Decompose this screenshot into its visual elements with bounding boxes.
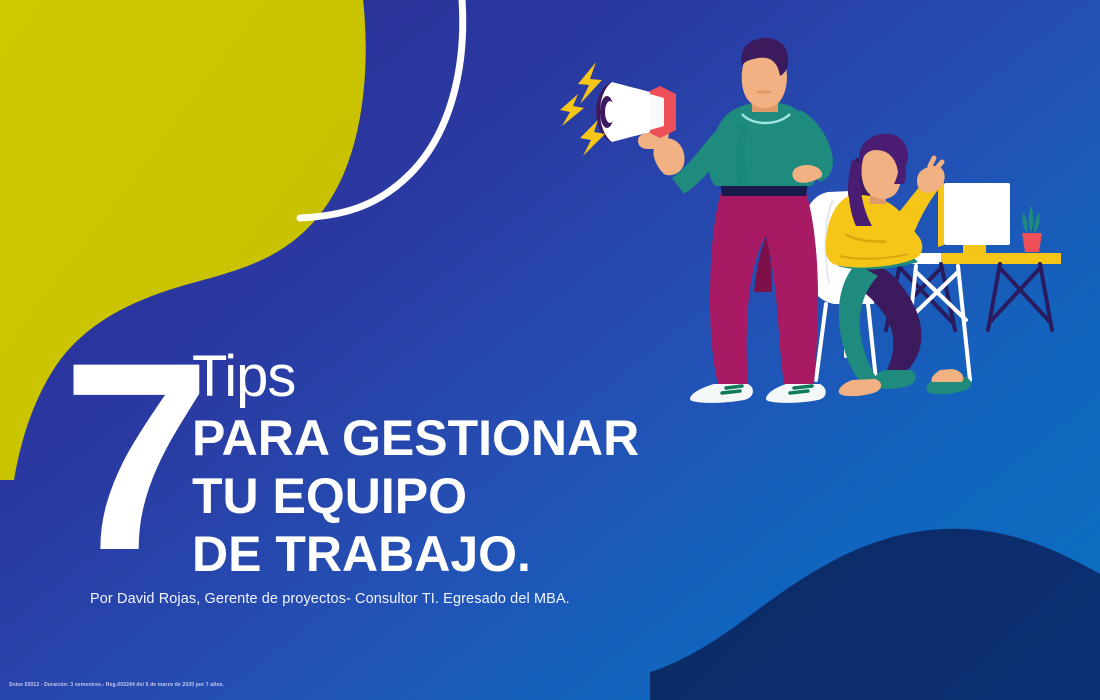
headline-line-1: PARA GESTIONAR: [192, 413, 639, 463]
headline-number: 7: [62, 322, 201, 590]
headline-line-3: DE TRABAJO.: [192, 529, 531, 579]
author-byline: Por David Rojas, Gerente de proyectos- C…: [90, 591, 570, 607]
headline-kicker: Tips: [192, 348, 295, 406]
potted-plant-icon: [1022, 205, 1042, 252]
poster-canvas: 7 Tips PARA GESTIONAR TU EQUIPO DE TRABA…: [0, 0, 1100, 700]
man-shoes: [690, 384, 826, 403]
headline-line-2: TU EQUIPO: [192, 471, 467, 521]
legal-footnote: Snies 53012 - Duración: 3 semestres.- Re…: [9, 682, 224, 688]
megaphone-icon: [596, 82, 676, 142]
monitor-icon: [938, 183, 1010, 258]
headline-block: 7 Tips PARA GESTIONAR TU EQUIPO DE TRABA…: [0, 340, 700, 620]
seated-woman-figure: [826, 134, 972, 396]
